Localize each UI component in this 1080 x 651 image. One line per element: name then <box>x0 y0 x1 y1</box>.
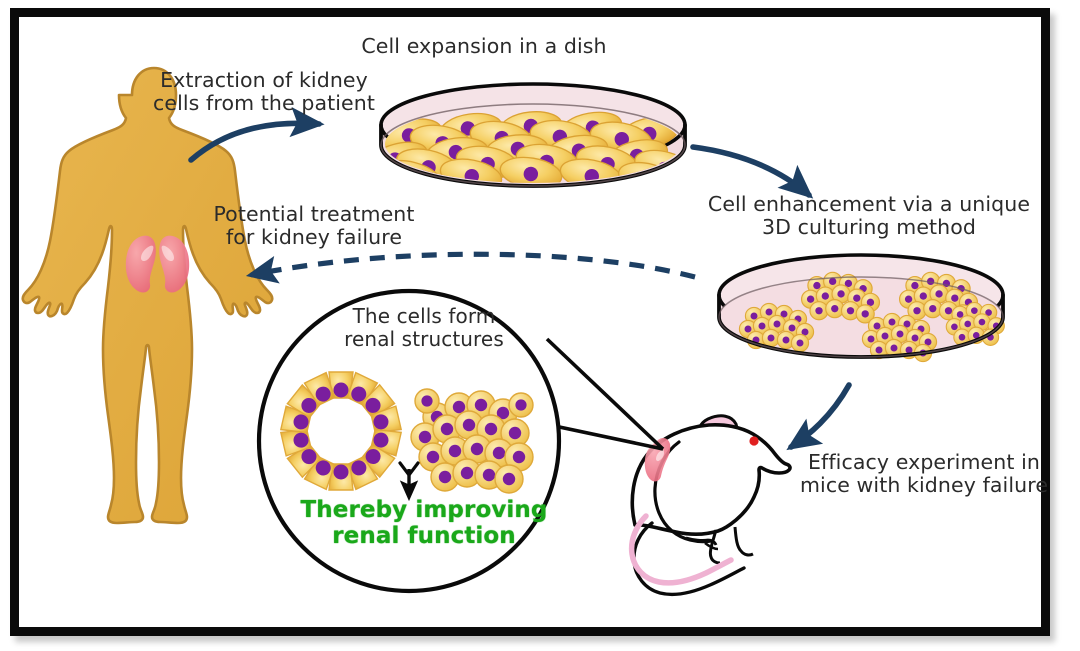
petri-dish-3d-icon <box>719 255 1004 362</box>
caption-potential-treatment: Potential treatment for kidney failure <box>179 203 449 249</box>
caption-extraction: Extraction of kidney cells from the pati… <box>129 69 399 115</box>
petri-dish-expansion-icon <box>363 84 699 201</box>
mouse-eye-icon <box>749 436 758 445</box>
caption-cell-expansion: Cell expansion in a dish <box>319 35 649 58</box>
figure-frame: Extraction of kidney cells from the pati… <box>10 8 1050 636</box>
arrow-mouse-to-patient <box>251 254 695 277</box>
caption-cell-enhancement: Cell enhancement via a unique 3D culturi… <box>689 193 1049 239</box>
caption-thereby-improving: Thereby improving renal function <box>274 497 574 549</box>
arrow-dish-to-dish3d <box>693 147 809 195</box>
caption-efficacy: Efficacy experiment in mice with kidney … <box>779 451 1069 497</box>
arrow-dish3d-to-mouse <box>791 385 849 447</box>
figure-stage: Extraction of kidney cells from the pati… <box>19 17 1041 627</box>
caption-renal-structures: The cells form renal structures <box>309 305 539 350</box>
